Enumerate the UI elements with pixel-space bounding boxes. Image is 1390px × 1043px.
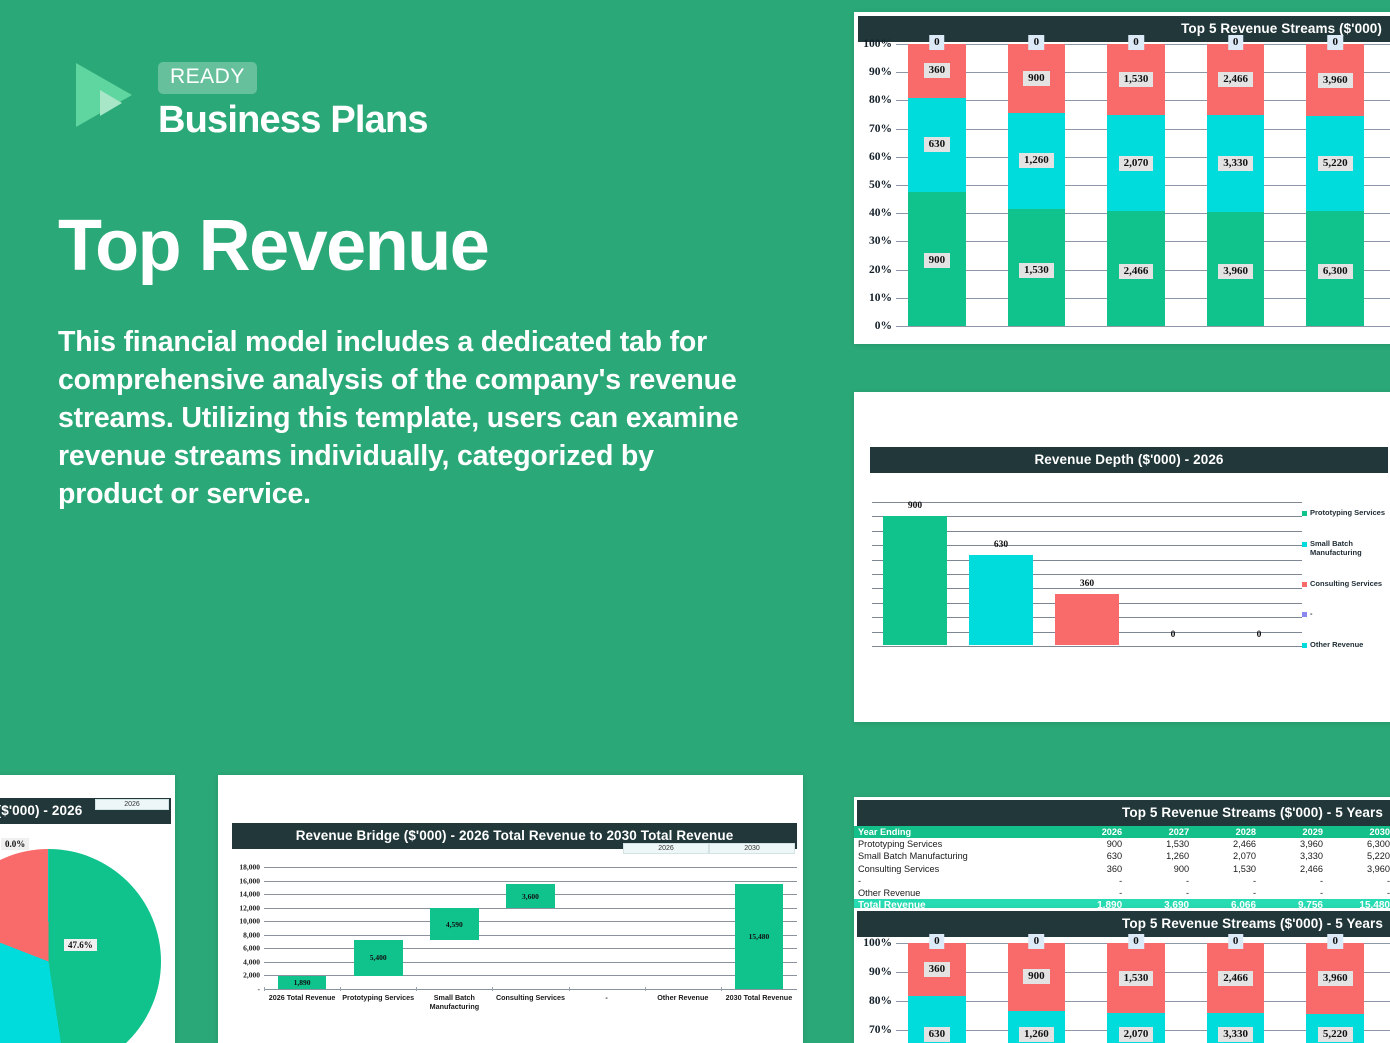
segment-label-other-revenue: 0 [1029,35,1045,50]
revenue-streams-table: Year Ending20262027202820292030Prototypi… [854,826,1390,912]
y-tick: 4,000 [243,957,260,966]
bar-segment: 2,070 [1107,115,1165,211]
x-tick-label: - [569,993,645,1011]
card-revenue-bridge-chart: Revenue Bridge ($'000) - 2026 Total Reve… [218,775,803,1043]
x-axis-ticks [264,987,797,991]
table-row: ------ [854,875,1390,887]
bar-column: 0360630 [896,939,996,1043]
table-cell: 900 [1126,863,1193,875]
legend-swatch [1302,542,1307,547]
bar-segment: 1,530 [1107,44,1165,115]
page-description: This financial model includes a dedicate… [58,323,758,513]
stacked-bar: 0360630900 [908,44,966,326]
segment-label-other-revenue: 0 [929,35,945,50]
bar-column: 01,5302,0702,466 [1095,44,1195,326]
bar-value-label: 900 [908,501,922,511]
chart-title-revenue-depth: Revenue Depth ($'000) - 2026 [870,447,1388,473]
y-tick: 2,000 [243,971,260,980]
x-tick-label: Other Revenue [645,993,721,1011]
segment-value-label: 900 [924,253,951,268]
bar-column: 900 [872,502,958,645]
gridline [872,646,1302,647]
bar-segment: 3,960 [1207,212,1265,326]
x-tick-label: Prototyping Services [340,993,416,1011]
table-cell: 1,530 [1193,863,1260,875]
table-cell: 2,070 [1193,850,1260,862]
y-tick: 8,000 [243,930,260,939]
bar: 630 [969,555,1033,645]
bar-segment: 900 [908,192,966,326]
y-tick: 60% [869,151,892,163]
y-axis: 0%10%20%30%40%50%60%70%80%90%100% [854,44,896,326]
bar-group: 036063009001,26001,5302,07002,4663,33003… [896,939,1390,1043]
legend-label: Other Revenue [1310,640,1363,650]
card-run-rate-pie: Run-Rate ($'000) - 2026 2026 47.6%19.0%0… [0,775,175,1043]
bar: 360 [1055,594,1119,645]
segment-label-other-revenue: 0 [1228,35,1244,50]
column-header-2029: 2029 [1260,826,1327,838]
y-tick: 18,000 [239,863,260,872]
bar-segment: 630 [908,98,966,192]
stacked-bar: 09001,2601,530 [1008,44,1066,326]
bar-column: 360 [1044,502,1130,645]
x-tick [569,987,645,991]
table-row: Prototyping Services9001,5302,4663,9606,… [854,838,1390,850]
run-rate-year-toggle[interactable]: 2026 [95,799,169,810]
segment-label-other-revenue: 0 [1128,35,1144,50]
legend-label: Consulting Services [1310,579,1382,589]
segment-value-label: 2,466 [1218,72,1253,87]
bar-column: 02,4663,330 [1195,939,1295,1043]
y-tick: 90% [869,966,892,978]
x-tick [340,987,416,991]
segment-value-label: 3,960 [1318,73,1353,88]
bar-column: 09001,2601,530 [996,44,1096,326]
table-cell: 3,960 [1327,863,1390,875]
bar-column [569,867,645,989]
y-tick: 10% [869,292,892,304]
card-revenue-depth-chart: Revenue Depth ($'000) - 2026 90063036000… [854,392,1390,722]
bar-value-label: 360 [1080,579,1094,589]
stacked-bar: 01,5302,0702,466 [1107,44,1165,326]
column-header-year-ending: Year Ending [854,826,1059,838]
y-tick: 80% [869,995,892,1007]
row-label: Small Batch Manufacturing [854,850,1059,862]
stacked-bar: 09001,260 [1008,943,1066,1043]
bar-segment: 2,466 [1207,943,1265,1013]
legend-label: Small Batch Manufacturing [1310,539,1390,558]
bar-segment: 2,070 [1107,1013,1165,1043]
bar-value-label: 630 [994,540,1008,550]
bar-value-label: 0 [1171,630,1176,640]
legend-item: - [1302,609,1390,619]
table-header-row: Year Ending20262027202820292030 [854,826,1390,838]
segment-value-label: 1,530 [1119,72,1154,87]
bar-value-label: 3,600 [522,892,539,901]
stacked-bar: 03,9605,2206,300 [1306,44,1364,326]
table-cell: 630 [1059,850,1126,862]
stacked-bar: 02,4663,3303,960 [1207,44,1265,326]
chart-top-stacked: 0%10%20%30%40%50%60%70%80%90%100%0360630… [854,44,1390,326]
column-header-2026: 2026 [1059,826,1126,838]
table-cell: 2,466 [1193,838,1260,850]
table-cell: 900 [1059,838,1126,850]
bar: 900 [883,516,947,645]
table-cell: - [1327,875,1390,887]
segment-value-label: 360 [924,63,951,78]
chart-title-bottom-stacked: Top 5 Revenue Streams ($'000) - 5 Years [857,911,1390,937]
x-tick [264,987,340,991]
table-cell: 3,330 [1260,850,1327,862]
bar-column: 630 [958,502,1044,645]
table-cell: - [1059,875,1126,887]
bar-column: 4,590 [416,867,492,989]
bar-column: 1,890 [264,867,340,989]
waterfall-bar: 3,600 [506,884,555,908]
table-cell: 2,466 [1260,863,1327,875]
segment-label-other-revenue: 0 [1128,934,1144,949]
pie-label-other-revenue: 0.0% [1,838,29,850]
table-cell: - [1327,887,1390,899]
bar-column: 0360630900 [896,44,996,326]
table-cell: 3,960 [1260,838,1327,850]
segment-label-other-revenue: 0 [1228,934,1244,949]
segment-label-other-revenue: 0 [1029,934,1045,949]
segment-value-label: 2,466 [1218,971,1253,986]
bar-segment: 900 [1008,44,1066,113]
segment-value-label: 2,466 [1119,264,1154,279]
bar-segment: 360 [908,943,966,996]
bar-segment: 900 [1008,943,1066,1010]
bar-segment: 1,260 [1008,113,1066,209]
bar-segment: 2,466 [1207,44,1265,115]
chart-run-rate: 47.6%19.0%0.0%0.0%33.3% [0,821,175,1033]
segment-value-label: 630 [924,1027,951,1042]
plot-area: 036063090009001,2601,53001,5302,0702,466… [896,44,1390,326]
segment-value-label: 1,530 [1019,263,1054,278]
column-header-2030: 2030 [1327,826,1390,838]
segment-value-label: 6,300 [1318,264,1353,279]
bar-group: 1,8905,4004,5903,60015,480 [264,867,797,989]
bar-column [645,867,721,989]
stacked-bar: 02,4663,330 [1207,943,1265,1043]
bar-column: 09001,260 [996,939,1096,1043]
row-label: Other Revenue [854,887,1059,899]
chart-bridge: -2,0004,0006,0008,00010,00012,00014,0001… [218,851,803,1021]
bar-segment: 6,300 [1306,211,1364,326]
chart-bottom-stacked: 70%80%90%100%036063009001,26001,5302,070… [854,939,1390,1043]
y-axis: 70%80%90%100% [854,939,896,1043]
bar-value-label: 4,590 [446,920,463,929]
y-tick: 70% [869,1024,892,1036]
x-tick-label: Small Batch Manufacturing [416,993,492,1011]
legend: Prototyping ServicesSmall Batch Manufact… [1302,508,1390,670]
segment-value-label: 1,260 [1019,1027,1054,1042]
pie-label-prototyping: 47.6% [64,939,97,951]
bar-segment: 3,330 [1207,115,1265,211]
segment-value-label: 2,070 [1119,1027,1154,1042]
segment-value-label: 1,260 [1019,153,1054,168]
page-title: Top Revenue [58,205,488,287]
row-label: Consulting Services [854,863,1059,875]
table-row: Small Batch Manufacturing6301,2602,0703,… [854,850,1390,862]
segment-value-label: 2,070 [1119,156,1154,171]
bar-column: 01,5302,070 [1095,939,1195,1043]
card-revenue-table: Top 5 Revenue Streams ($'000) - 5 Years … [854,797,1390,903]
bar-segment: 360 [908,44,966,98]
segment-value-label: 3,330 [1218,1027,1253,1042]
bar-segment: 1,530 [1107,943,1165,1013]
y-tick: 100% [863,937,892,949]
play-triangle-logo-icon [70,58,142,132]
brand-logo: READY Business Plans [70,58,428,142]
table-row: Other Revenue----- [854,887,1390,899]
column-header-2028: 2028 [1193,826,1260,838]
y-tick: 6,000 [243,944,260,953]
y-tick: 30% [869,235,892,247]
legend-swatch [1302,582,1307,587]
table-cell: 1,260 [1126,850,1193,862]
table-cell: 1,530 [1126,838,1193,850]
table-title: Top 5 Revenue Streams ($'000) - 5 Years [857,800,1390,826]
y-tick: 80% [869,94,892,106]
waterfall-bar: 15,480 [735,884,784,989]
legend-label: - [1310,609,1313,619]
table-cell: - [1193,875,1260,887]
bar-column: 5,400 [340,867,416,989]
table-cell: - [1126,887,1193,899]
y-tick: 14,000 [239,890,260,899]
plot-area: 90063036000 [872,502,1302,646]
x-tick [721,987,797,991]
stacked-bar: 01,5302,070 [1107,943,1165,1043]
bar-value-label: 1,890 [294,978,311,987]
table-cell: - [1059,887,1126,899]
bar-segment: 2,466 [1107,211,1165,326]
stacked-bar: 03,9605,220 [1306,943,1364,1043]
bar-segment: 5,220 [1306,1014,1364,1043]
segment-value-label: 360 [924,962,951,977]
ready-badge: READY [158,62,257,94]
x-axis-labels: 2026 Total RevenuePrototyping ServicesSm… [264,993,797,1011]
table-cell: 5,220 [1327,850,1390,862]
bar-value-label: 15,480 [749,932,770,941]
legend-item: Small Batch Manufacturing [1302,539,1390,558]
waterfall-bar: 4,590 [430,908,479,939]
bar-value-label: 0 [1257,630,1262,640]
row-label: - [854,875,1059,887]
chart-revenue-depth: 90063036000Prototyping ServicesSmall Bat… [854,474,1390,664]
segment-value-label: 900 [1023,71,1050,86]
segment-value-label: 1,530 [1119,971,1154,986]
segment-value-label: 900 [1023,969,1050,984]
y-axis: -2,0004,0006,0008,00010,00012,00014,0001… [222,867,262,989]
table-cell: - [1260,875,1327,887]
bar-segment: 5,220 [1306,116,1364,211]
bar-group: 036063090009001,2601,53001,5302,0702,466… [896,44,1390,326]
bar-column: 3,600 [492,867,568,989]
segment-value-label: 630 [924,137,951,152]
bar-column: 03,9605,2206,300 [1294,44,1390,326]
bar-column: 0 [1216,502,1302,645]
y-tick: - [258,985,261,994]
x-tick [416,987,492,991]
waterfall-bar: 5,400 [354,940,403,977]
y-tick: 0% [875,320,892,332]
bar-segment: 3,960 [1306,44,1364,116]
table-cell: - [1126,875,1193,887]
stacked-bar: 0360630 [908,943,966,1043]
y-tick: 40% [869,207,892,219]
segment-label-other-revenue: 0 [1327,35,1343,50]
card-bottom-stacked-chart: Top 5 Revenue Streams ($'000) - 5 Years … [854,908,1390,1043]
bar-column: 15,480 [721,867,797,989]
bar-column: 0 [1130,502,1216,645]
segment-value-label: 5,220 [1318,1027,1353,1042]
segment-value-label: 3,330 [1218,156,1253,171]
y-tick: 50% [869,179,892,191]
bar-segment: 3,960 [1306,943,1364,1014]
bar-column: 02,4663,3303,960 [1195,44,1295,326]
y-tick: 16,000 [239,876,260,885]
x-tick-label: 2030 Total Revenue [721,993,797,1011]
legend-item: Other Revenue [1302,640,1390,650]
x-tick [492,987,568,991]
bar-group: 90063036000 [872,502,1302,645]
table-cell: 6,300 [1327,838,1390,850]
y-tick: 12,000 [239,903,260,912]
bar-column: 03,9605,220 [1294,939,1390,1043]
bar-segment: 1,530 [1008,209,1066,326]
y-tick: 70% [869,123,892,135]
bar-segment: 1,260 [1008,1011,1066,1043]
segment-value-label: 3,960 [1318,971,1353,986]
bar-value-label: 5,400 [370,953,387,962]
segment-label-other-revenue: 0 [1327,934,1343,949]
row-label: Prototyping Services [854,838,1059,850]
x-tick-label: Consulting Services [492,993,568,1011]
card-top-revenue-streams-chart: Top 5 Revenue Streams ($'000) 0%10%20%30… [854,12,1390,344]
segment-value-label: 3,960 [1218,264,1253,279]
legend-label: Prototyping Services [1310,508,1385,518]
y-tick: 10,000 [239,917,260,926]
bar-segment: 630 [908,996,966,1043]
legend-swatch [1302,612,1307,617]
x-tick-label: 2026 Total Revenue [264,993,340,1011]
plot-area: 1,8905,4004,5903,60015,480 [264,867,797,989]
y-tick: 90% [869,66,892,78]
table-cell: - [1260,887,1327,899]
gridline [896,326,1390,327]
bar-segment: 3,330 [1207,1013,1265,1043]
segment-value-label: 5,220 [1318,156,1353,171]
brand-name: Business Plans [158,99,428,142]
plot-area: 036063009001,26001,5302,07002,4663,33003… [896,939,1390,1043]
table-row: Consulting Services3609001,5302,4663,960 [854,863,1390,875]
legend-swatch [1302,643,1307,648]
y-tick: 100% [863,38,892,50]
legend-item: Consulting Services [1302,579,1390,589]
column-header-2027: 2027 [1126,826,1193,838]
table-cell: 360 [1059,863,1126,875]
table-cell: - [1193,887,1260,899]
y-tick: 20% [869,264,892,276]
segment-label-other-revenue: 0 [929,934,945,949]
legend-item: Prototyping Services [1302,508,1390,518]
x-tick [645,987,721,991]
legend-swatch [1302,511,1307,516]
